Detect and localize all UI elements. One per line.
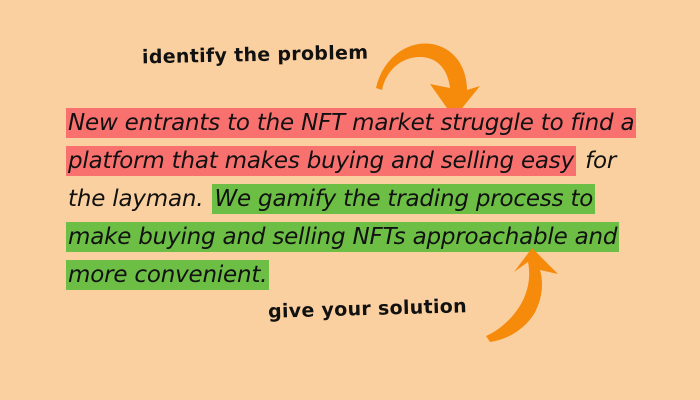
annotation-identify-the-problem: identify the problem (142, 42, 369, 69)
slide-canvas: identify the problem New entrants to the… (0, 0, 700, 400)
statement-segment-problem: New entrants to the NFT market struggle … (66, 108, 636, 176)
curved-arrow-up-left-icon (486, 250, 596, 340)
annotation-give-your-solution: give your solution (268, 295, 467, 323)
